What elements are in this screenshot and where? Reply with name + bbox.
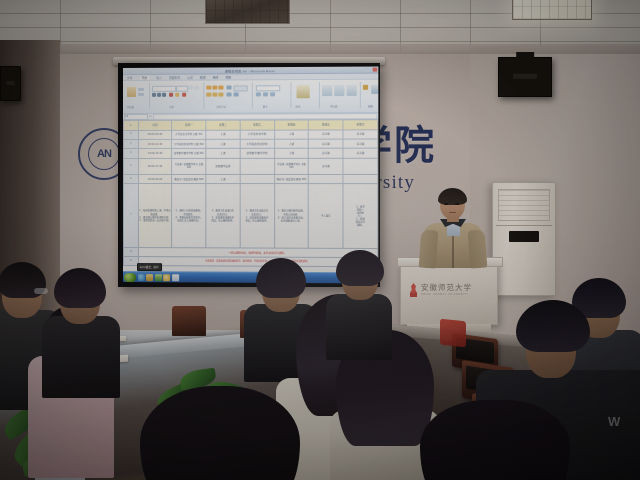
cell[interactable]: 大学语文/文学院 主楼 301 (172, 130, 206, 139)
ribbon-group-cells-label: 单元格 (330, 104, 337, 108)
header-cell-time[interactable]: 时间 (138, 120, 172, 130)
cell[interactable]: 大学语文/文学院 (240, 130, 274, 139)
cell-time[interactable]: 08:00-09:40 (138, 130, 172, 139)
audience-person (326, 250, 392, 354)
ribbon-group-editing-label: 编辑 (368, 104, 373, 108)
cell[interactable]: 晚自习 / 班会活动 教室 308 (172, 174, 206, 183)
table-header-row: 1 时间 星期一 星期二 星期三 星期四 星期五 星期六 (123, 120, 377, 130)
cell-detail[interactable]: 不上课日 (309, 184, 343, 249)
ribbon-tab-insert[interactable]: 插入 (156, 75, 162, 79)
cell-time[interactable]: 10:00-11:40 (138, 139, 172, 148)
cell[interactable]: 高等数学/数学学院 主楼 201 (172, 149, 206, 158)
ribbon-group-font-label: 字体 (169, 105, 174, 109)
cell[interactable]: 大学英语/外语学院 主楼 302 (172, 139, 206, 148)
ribbon-tab-file[interactable]: 文件 (127, 75, 133, 79)
cell[interactable] (240, 174, 274, 183)
ceiling-light-on (512, 0, 592, 20)
folder-icon[interactable] (146, 274, 153, 281)
cell[interactable]: 上课 (206, 130, 240, 139)
cell-time[interactable]: 19:00-21:00 (138, 174, 172, 183)
eco-mode-tooltip: ECO模式：用户 (137, 263, 162, 271)
podium-name-plate: 安徽师范大学 ANHUI NORMAL UNIVERSITY (408, 280, 486, 300)
ribbon-group-styles-label: 样式 (295, 104, 300, 108)
red-bag (440, 319, 466, 348)
cell[interactable]: 自习课 (309, 139, 343, 149)
jacket-logo-text: W (608, 414, 620, 429)
cell[interactable]: 专业课 / 实践教学环节 主楼 105 (274, 158, 308, 174)
ceiling-light-off (205, 0, 290, 24)
cell[interactable]: 自习课 (309, 130, 343, 140)
cell-detail[interactable]: 1、晚自习期间保持安静， 不得大声喧哗； 2、班干部负责考勤记录， 如有缺勤及时… (274, 184, 308, 248)
cell-time[interactable]: 16:00-17:40 (138, 158, 172, 174)
ribbon-tab-data[interactable]: 数据 (200, 75, 206, 79)
cell[interactable]: 自习课 (343, 148, 378, 158)
floor-air-conditioner (492, 182, 556, 296)
cell[interactable]: 高等数学/数学学院 (240, 149, 274, 158)
cell[interactable] (343, 174, 378, 183)
header-cell-mon[interactable]: 星期一 (172, 120, 206, 130)
ribbon-tab-formulas[interactable]: 公式 (187, 75, 193, 79)
cell[interactable]: 自习课 (343, 129, 378, 139)
podium-name-chinese: 安徽师范大学 (421, 284, 472, 292)
ribbon-group-clipboard-label: 剪贴板 (127, 105, 134, 109)
wall-speaker-right-icon (498, 57, 552, 97)
cell[interactable]: 专业课 / 实践教学环节 主楼 105 (172, 158, 206, 174)
audience-person (42, 268, 120, 396)
cell-detail[interactable]: 1、教室卫生由值日生 负责打扫； 2、实验课须穿戴防护 用品，听从教师指挥。 (206, 184, 240, 248)
ribbon-tab-home[interactable]: 开始 (140, 75, 150, 79)
ribbon-tab-review[interactable]: 审阅 (213, 75, 219, 79)
table-row: 3 10:00-11:40 大学英语/外语学院 主楼 302 上课 大学英语/外… (123, 139, 377, 149)
cell[interactable]: 大学英语/外语学院 (240, 139, 274, 148)
media-icon[interactable] (163, 274, 170, 281)
cell[interactable] (309, 174, 343, 183)
header-cell-fri[interactable]: 星期五 (309, 120, 343, 130)
cell[interactable]: 上课 (274, 149, 308, 158)
table-row: 6 19:00-21:00 晚自习 / 班会活动 教室 308 上课 晚自习 /… (123, 174, 377, 183)
cell[interactable]: 上课 (206, 149, 240, 158)
ribbon[interactable]: 剪贴板 字体 (123, 80, 378, 114)
table-row: 5 16:00-17:40 专业课 / 实践教学环节 主楼 105 实践教学安排… (123, 158, 377, 175)
wall-trim-band (0, 44, 640, 54)
cell[interactable] (240, 158, 274, 174)
cell[interactable] (343, 158, 378, 175)
header-cell-wed[interactable]: 星期三 (240, 120, 274, 130)
header-cell-tue[interactable]: 星期二 (206, 120, 240, 130)
start-orb-icon[interactable] (124, 273, 136, 282)
seal-glyph: AN (97, 149, 111, 160)
cell-detail[interactable]: 1、课前十分钟到达教室， 手机静音； 2、考勤由班委负责登记， 每周汇总上报辅导… (172, 184, 206, 248)
row-number: 1 (123, 120, 138, 130)
cell[interactable]: 上课 (206, 174, 240, 183)
cell[interactable]: 上课 (206, 139, 240, 148)
cell[interactable]: 上课 (274, 139, 308, 148)
cell[interactable]: 实践教学安排 (206, 158, 240, 174)
audience-person (420, 400, 570, 480)
presenter-at-podium (420, 190, 486, 268)
cell[interactable]: 自习课 (309, 148, 343, 157)
ribbon-group-number-label: 数字 (263, 104, 268, 108)
excel-title-bar: 课程安排表.xls - Microsoft Excel (123, 67, 378, 75)
name-box[interactable]: A1 (124, 113, 148, 119)
cell-detail-notes[interactable]: 1、每周按课程表上课，不得无故缺课； 2、遇调课以教务处通知为准； 3、请假须提… (138, 184, 172, 248)
ac-louver (498, 189, 550, 221)
cell[interactable]: 自习课 (309, 158, 343, 174)
podium-name-english: ANHUI NORMAL UNIVERSITY (421, 293, 472, 296)
header-cell-sat[interactable]: 星期六 (343, 120, 378, 130)
ac-display-panel[interactable] (509, 231, 539, 242)
cell[interactable]: 晚自习 / 班会活动 教室 308 (274, 174, 308, 183)
cell-detail[interactable]: 1、按学 院统一 安排执 行； 2、特殊 情况另行 通知。 (343, 184, 378, 249)
audience-person (140, 386, 300, 480)
cell[interactable]: 自习课 (343, 139, 378, 149)
table-row: 4 14:00-15:40 高等数学/数学学院 主楼 201 上课 高等数学/数… (123, 148, 377, 158)
cell-detail[interactable]: 1、教室卫生由值日生 负责打扫； 2、实验课须穿戴防护 用品，听从教师指挥。 (240, 184, 274, 248)
ie-icon[interactable] (138, 274, 145, 281)
window-controls[interactable] (364, 68, 377, 72)
ribbon-tab-layout[interactable]: 页面布局 (169, 75, 180, 79)
header-cell-thu[interactable]: 星期四 (274, 120, 308, 130)
presenter-hair (438, 188, 467, 205)
ribbon-tab-view[interactable]: 视图 (225, 75, 231, 79)
doc-icon[interactable] (172, 274, 179, 281)
ribbon-group-alignment-label: 对齐方式 (216, 105, 226, 109)
university-logo-icon (408, 283, 419, 297)
spreadsheet-grid[interactable]: 1 时间 星期一 星期二 星期三 星期四 星期五 星期六 2 08:00-09:… (123, 119, 378, 267)
cell-time[interactable]: 14:00-15:40 (138, 149, 172, 158)
wall-speaker-left-icon (0, 66, 21, 101)
table-row: 2 08:00-09:40 大学语文/文学院 主楼 301 上课 大学语文/文学… (123, 129, 377, 139)
table-row-detail: 7 1、每周按课程表上课，不得无故缺课； 2、遇调课以教务处通知为准； 3、请假… (123, 184, 377, 249)
excel-icon[interactable] (155, 274, 162, 281)
cell[interactable]: 上课 (274, 130, 308, 140)
excel-title: 课程安排表.xls - Microsoft Excel (225, 68, 275, 73)
conference-room-photo: AN 学院 versity 课程安排表.xls - Microsoft Exce… (0, 0, 640, 480)
